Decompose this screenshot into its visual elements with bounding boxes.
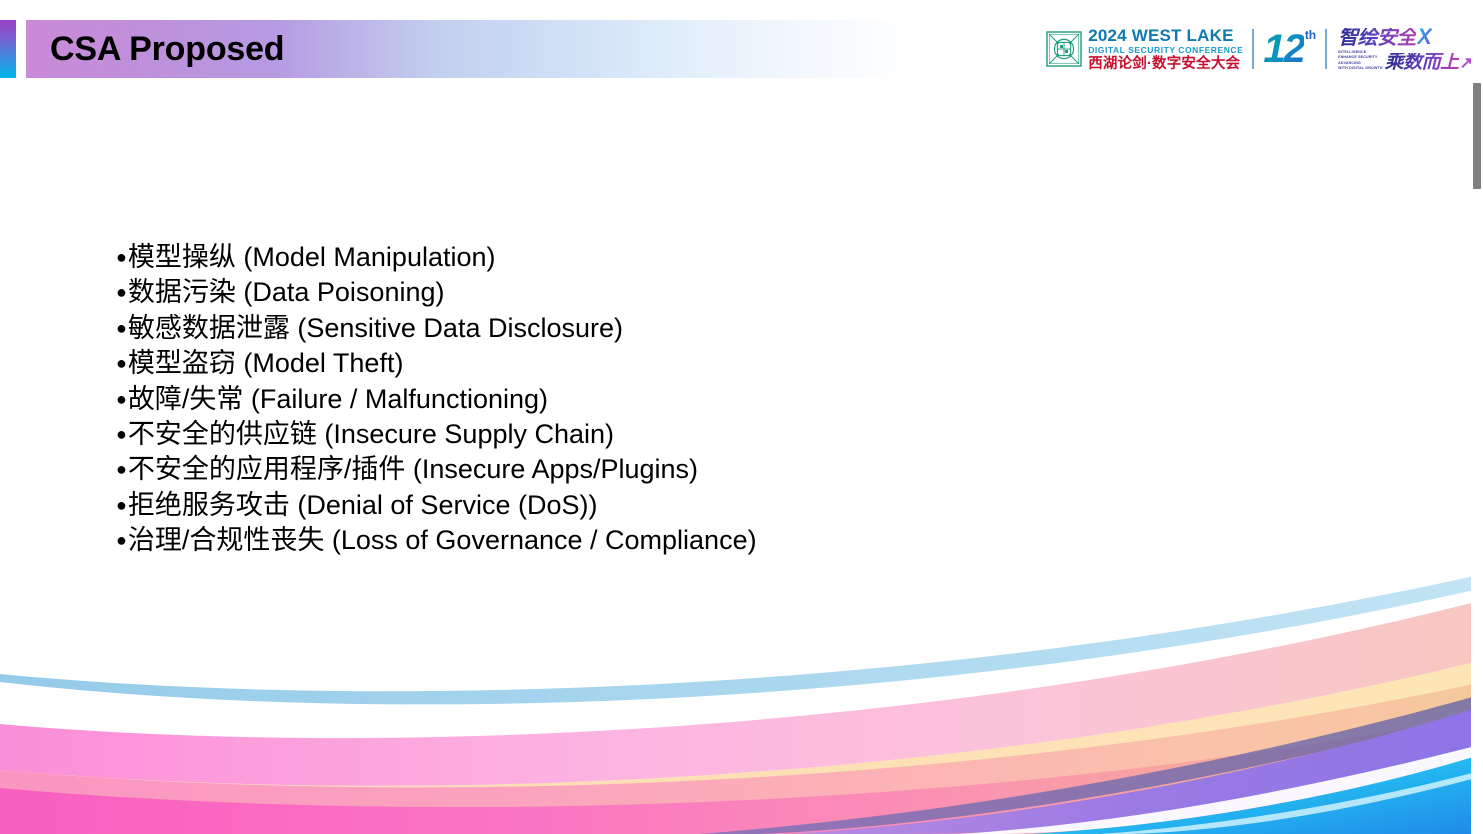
westlake-conference-logo: 2024 WEST LAKE DIGITAL SECURITY CONFEREN…	[1046, 27, 1243, 71]
list-item-label: 模型操纵 (Model Manipulation)	[128, 242, 496, 272]
edition-suffix: th	[1305, 27, 1316, 43]
list-item: ●模型盗窃 (Model Theft)	[116, 346, 1216, 381]
list-item-label: 模型盗窃 (Model Theft)	[128, 348, 404, 378]
threat-bullet-list: ●模型操纵 (Model Manipulation) ●数据污染 (Data P…	[116, 240, 1216, 559]
wave-blue-thin	[0, 574, 1483, 704]
presentation-slide: CSA Proposed 2024 WEST LAKE DIGITAL SECU…	[0, 0, 1483, 834]
list-item: ●模型操纵 (Model Manipulation)	[116, 240, 1216, 275]
wave-magenta-main	[0, 714, 1483, 834]
westlake-seal-icon	[1046, 31, 1082, 67]
wave-pink-soft	[0, 600, 1483, 786]
bullet-icon: ●	[116, 318, 127, 338]
theme-text-cn-1: 智绘安全	[1338, 28, 1416, 48]
wave-cyan-highlight	[1100, 770, 1483, 834]
title-accent-bar	[0, 20, 16, 78]
list-item-label: 故障/失常 (Failure / Malfunctioning)	[128, 384, 548, 414]
list-item-label: 数据污染 (Data Poisoning)	[128, 277, 445, 307]
page-title: CSA Proposed	[50, 20, 284, 78]
westlake-title-en: 2024 WEST LAKE	[1088, 27, 1243, 44]
list-item: ●敏感数据泄露 (Sensitive Data Disclosure)	[116, 311, 1216, 346]
list-item-label: 敏感数据泄露 (Sensitive Data Disclosure)	[128, 313, 623, 343]
bullet-icon: ●	[116, 424, 127, 444]
wave-purple	[790, 706, 1483, 834]
bullet-icon: ●	[116, 247, 127, 267]
logo-divider-1	[1252, 29, 1254, 69]
bullet-icon: ●	[116, 459, 127, 479]
wave-violet-line	[700, 694, 1483, 834]
bullet-icon: ●	[116, 389, 127, 409]
bullet-icon: ●	[116, 530, 127, 550]
wave-white-separator	[960, 744, 1483, 834]
scrollbar-thumb[interactable]	[1473, 83, 1481, 189]
list-item: ●不安全的供应链 (Insecure Supply Chain)	[116, 417, 1216, 452]
westlake-subtitle-en: DIGITAL SECURITY CONFERENCE	[1088, 46, 1243, 55]
theme-text-cn-2: 乘数而上	[1385, 53, 1459, 72]
logo-lockup: 2024 WEST LAKE DIGITAL SECURITY CONFEREN…	[1046, 22, 1473, 76]
scrollbar-track[interactable]	[1471, 0, 1483, 834]
wave-peach	[0, 660, 1483, 832]
wave-magenta-upper	[0, 682, 1483, 834]
wave-cyan-corner	[1030, 754, 1483, 834]
decorative-bottom-waves	[0, 574, 1483, 834]
theme-line-1: 智绘安全 X	[1338, 26, 1473, 48]
logo-divider-2	[1325, 29, 1327, 69]
bullet-icon: ●	[116, 495, 127, 515]
edition-badge: 12 th	[1263, 27, 1316, 71]
list-item: ●不安全的应用程序/插件 (Insecure Apps/Plugins)	[116, 452, 1216, 487]
list-item: ●治理/合规性丧失 (Loss of Governance / Complian…	[116, 523, 1216, 558]
westlake-wordmark: 2024 WEST LAKE DIGITAL SECURITY CONFEREN…	[1088, 27, 1243, 71]
theme-en-line-4: WITH DIGITAL GROWTH	[1338, 66, 1382, 71]
westlake-title-cn: 西湖论剑·数字安全大会	[1088, 57, 1243, 72]
list-item-label: 不安全的供应链 (Insecure Supply Chain)	[128, 419, 614, 449]
list-item: ●故障/失常 (Failure / Malfunctioning)	[116, 382, 1216, 417]
theme-x-mark: X	[1417, 26, 1432, 48]
bullet-icon: ●	[116, 353, 127, 373]
list-item: ●拒绝服务攻击 (Denial of Service (DoS))	[116, 488, 1216, 523]
list-item-label: 不安全的应用程序/插件 (Insecure Apps/Plugins)	[128, 454, 698, 484]
list-item-label: 治理/合规性丧失 (Loss of Governance / Complianc…	[128, 525, 757, 555]
theme-line-2: INTELLIGENCE ENHANCE SECURITY ADVANCING …	[1338, 50, 1473, 72]
theme-english-subtext: INTELLIGENCE ENHANCE SECURITY ADVANCING …	[1338, 50, 1382, 72]
bullet-icon: ●	[116, 282, 127, 302]
edition-number: 12	[1263, 27, 1304, 71]
list-item-label: 拒绝服务攻击 (Denial of Service (DoS))	[128, 490, 598, 520]
list-item: ●数据污染 (Data Poisoning)	[116, 275, 1216, 310]
conference-theme-logo: 智绘安全 X INTELLIGENCE ENHANCE SECURITY ADV…	[1336, 25, 1473, 73]
